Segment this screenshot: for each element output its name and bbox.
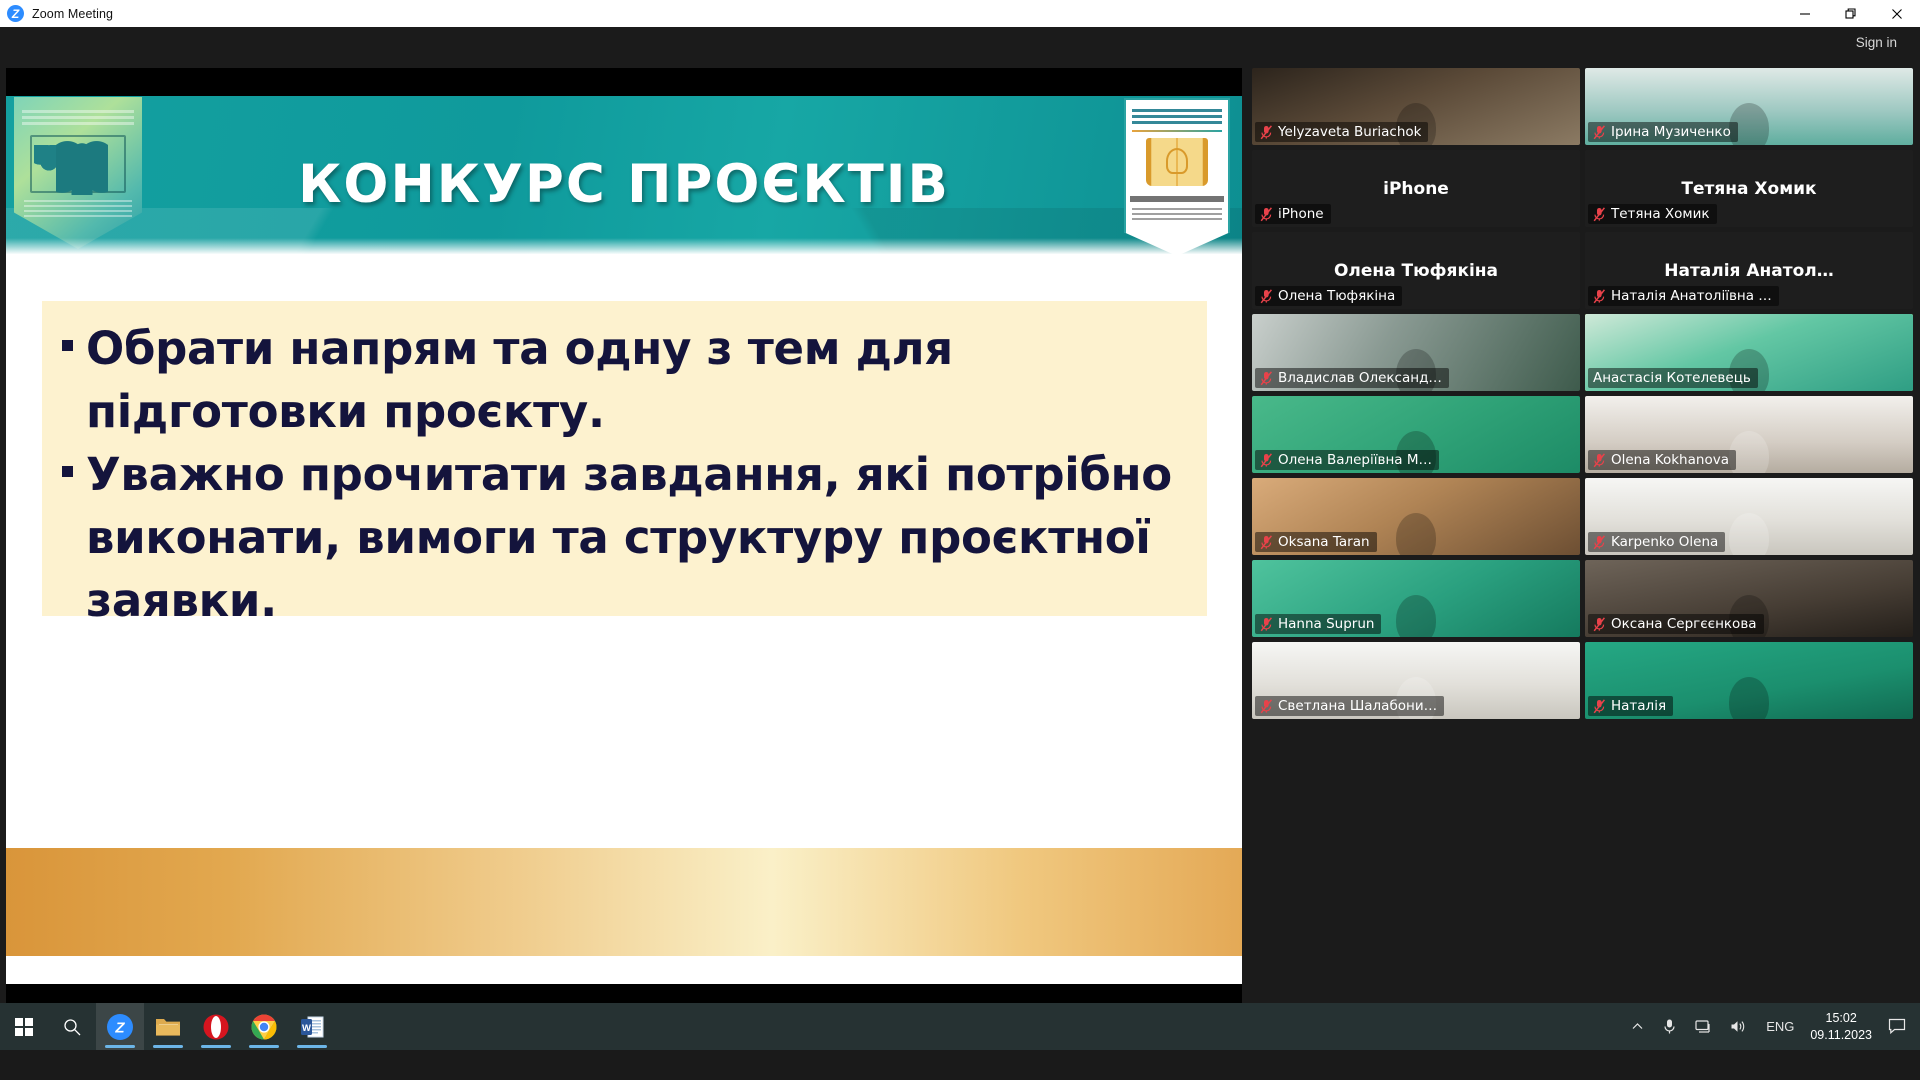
slide-footer-band (6, 848, 1242, 956)
thumbnail-row: Yelyzaveta BuriachokІрина Музиченко (1252, 68, 1914, 145)
window-title: Zoom Meeting (32, 7, 113, 21)
participant-name-badge: Ірина Музиченко (1588, 122, 1738, 142)
participant-name: Светлана Шалабони… (1278, 698, 1437, 714)
minimize-button[interactable] (1782, 0, 1828, 27)
taskbar-item-word[interactable]: W (288, 1003, 336, 1050)
mic-muted-icon (1260, 699, 1273, 714)
participant-name-badge: Олена Валеріївна М… (1255, 450, 1439, 470)
participant-name-badge: Наталія (1588, 696, 1673, 716)
participant-name-badge: Анастасія Котелевець (1588, 368, 1758, 388)
mic-muted-icon (1593, 535, 1606, 550)
participant-tile[interactable]: Наталія (1585, 642, 1913, 719)
thumbnail-row: Oksana TaranKarpenko Olena (1252, 478, 1914, 555)
participant-tile[interactable]: Олена Валеріївна М… (1252, 396, 1580, 473)
participant-thumbnail-panel[interactable]: Yelyzaveta BuriachokІрина МузиченкоiPhon… (1252, 68, 1914, 1012)
start-button[interactable] (0, 1003, 48, 1050)
sign-in-button[interactable]: Sign in (1847, 32, 1906, 53)
participant-name-badge: Наталія Анатоліївна … (1588, 286, 1779, 306)
participant-name: Наталія Анатоліївна … (1611, 288, 1772, 304)
participant-tile[interactable]: Светлана Шалабони… (1252, 642, 1580, 719)
shared-screen-region[interactable]: КОНКУРС ПРОЄКТІВ (6, 68, 1242, 1012)
window-titlebar: Z Zoom Meeting (0, 0, 1920, 27)
thumbnail-row: iPhoneiPhoneТетяна ХомикТетяна Хомик (1252, 150, 1914, 227)
participant-tile[interactable]: Olena Kokhanova (1585, 396, 1913, 473)
maximize-restore-button[interactable] (1828, 0, 1874, 27)
participant-name: Анастасія Котелевець (1593, 370, 1751, 386)
mic-muted-icon (1260, 125, 1273, 140)
taskbar-item-explorer[interactable] (144, 1003, 192, 1050)
presentation-slide: КОНКУРС ПРОЄКТІВ (6, 96, 1242, 984)
participant-tile[interactable]: Yelyzaveta Buriachok (1252, 68, 1580, 145)
taskbar-item-chrome[interactable] (240, 1003, 288, 1050)
slide-bullet-1: Обрати напрям та одну з тем для підготов… (62, 317, 1187, 443)
participant-tile[interactable]: Karpenko Olena (1585, 478, 1913, 555)
thumbnail-row: Олена Валеріївна М…Olena Kokhanova (1252, 396, 1914, 473)
participant-tile[interactable]: Олена ТюфякінаОлена Тюфякіна (1252, 232, 1580, 309)
participant-name: Олена Валеріївна М… (1278, 452, 1432, 468)
participant-name: Oksana Taran (1278, 534, 1370, 550)
mic-muted-icon (1260, 289, 1273, 304)
mic-muted-icon (1260, 207, 1273, 222)
participant-name-badge: Oksana Taran (1255, 532, 1377, 552)
show-hidden-icons-button[interactable] (1622, 1003, 1653, 1050)
participant-tile[interactable]: Oksana Taran (1252, 478, 1580, 555)
taskbar-item-opera[interactable] (192, 1003, 240, 1050)
participant-name: Yelyzaveta Buriachok (1278, 124, 1421, 140)
participant-tile[interactable]: iPhoneiPhone (1252, 150, 1580, 227)
participant-tile[interactable]: Тетяна ХомикТетяна Хомик (1585, 150, 1913, 227)
participant-name: iPhone (1278, 206, 1324, 222)
participant-name: Олена Тюфякіна (1278, 288, 1395, 304)
windows-taskbar: Z (0, 1003, 1920, 1050)
participant-name: Olena Kokhanova (1611, 452, 1729, 468)
svg-text:W: W (302, 1023, 311, 1034)
participant-name-badge: Karpenko Olena (1588, 532, 1725, 552)
mic-muted-icon (1593, 617, 1606, 632)
notification-icon[interactable] (1884, 1003, 1920, 1050)
thumbnail-row: Владислав Олександ…Анастасія Котелевець (1252, 314, 1914, 391)
search-button[interactable] (48, 1003, 96, 1050)
participant-name: Наталія (1611, 698, 1666, 714)
participant-tile[interactable]: Hanna Suprun (1252, 560, 1580, 637)
svg-text:Z: Z (114, 1019, 125, 1036)
participant-name-badge: Оксана Сергєєнкова (1588, 614, 1764, 634)
participant-tile[interactable]: Анастасія Котелевець (1585, 314, 1913, 391)
participant-name: Тетяна Хомик (1611, 206, 1710, 222)
participant-name-badge: Тетяна Хомик (1588, 204, 1717, 224)
bullet-marker-icon (62, 466, 73, 477)
participant-tile[interactable]: Ірина Музиченко (1585, 68, 1913, 145)
participant-name: Оксана Сергєєнкова (1611, 616, 1757, 632)
thumbnail-row: Светлана Шалабони…Наталія (1252, 642, 1914, 719)
slide-bullet-text: Уважно прочитати завдання, які потрібно … (86, 443, 1187, 632)
clock-date: 09.11.2023 (1810, 1027, 1872, 1044)
mic-muted-icon (1593, 125, 1606, 140)
system-tray: ENG 15:02 09.11.2023 (1622, 1003, 1920, 1050)
language-indicator[interactable]: ENG (1756, 1019, 1804, 1034)
slide-bullet-2: Уважно прочитати завдання, які потрібно … (62, 443, 1187, 632)
meeting-top-strip: Sign in (0, 27, 1920, 60)
zoom-icon: Z (7, 5, 24, 22)
mic-muted-icon (1260, 535, 1273, 550)
participant-name-badge: Olena Kokhanova (1588, 450, 1736, 470)
clock[interactable]: 15:02 09.11.2023 (1804, 1010, 1884, 1044)
participant-name-badge: iPhone (1255, 204, 1331, 224)
mic-muted-icon (1593, 289, 1606, 304)
participant-name: Владислав Олександ… (1278, 370, 1442, 386)
participant-tile[interactable]: Оксана Сергєєнкова (1585, 560, 1913, 637)
slide-title: КОНКУРС ПРОЄКТІВ (6, 154, 1242, 215)
slide-content-box: Обрати напрям та одну з тем для підготов… (42, 301, 1207, 616)
thumbnail-row: Олена ТюфякінаОлена ТюфякінаНаталія Анат… (1252, 232, 1914, 309)
participant-name: Hanna Suprun (1278, 616, 1374, 632)
mic-muted-icon (1260, 371, 1273, 386)
participant-name-badge: Yelyzaveta Buriachok (1255, 122, 1428, 142)
clock-time: 15:02 (1810, 1010, 1872, 1027)
volume-icon[interactable] (1721, 1003, 1756, 1050)
participant-name: Ірина Музиченко (1611, 124, 1731, 140)
slide-header-band: КОНКУРС ПРОЄКТІВ (6, 96, 1242, 254)
bullet-marker-icon (62, 340, 73, 351)
slide-bullet-text: Обрати напрям та одну з тем для підготов… (86, 317, 1187, 443)
thumbnail-row: Hanna SuprunОксана Сергєєнкова (1252, 560, 1914, 637)
taskbar-item-zoom[interactable]: Z (96, 1003, 144, 1050)
participant-tile[interactable]: Наталія Анатол…Наталія Анатоліївна … (1585, 232, 1913, 309)
scientific-society-logo (1124, 98, 1230, 254)
close-button[interactable] (1874, 0, 1920, 27)
microphone-icon[interactable] (1653, 1003, 1686, 1050)
participant-tile[interactable]: Владислав Олександ… (1252, 314, 1580, 391)
mic-muted-icon (1260, 617, 1273, 632)
participant-name-badge: Hanna Suprun (1255, 614, 1381, 634)
mic-muted-icon (1593, 699, 1606, 714)
mic-muted-icon (1593, 207, 1606, 222)
mic-muted-icon (1260, 453, 1273, 468)
university-emblem-logo (14, 97, 142, 249)
network-icon[interactable] (1686, 1003, 1721, 1050)
participant-name: Karpenko Olena (1611, 534, 1718, 550)
window-controls (1782, 0, 1920, 27)
mic-muted-icon (1593, 453, 1606, 468)
participant-name-badge: Светлана Шалабони… (1255, 696, 1444, 716)
participant-name-badge: Владислав Олександ… (1255, 368, 1449, 388)
zoom-meeting-window: Sign in КОНКУРС ПРОЄКТІВ (0, 27, 1920, 1050)
participant-name-badge: Олена Тюфякіна (1255, 286, 1402, 306)
